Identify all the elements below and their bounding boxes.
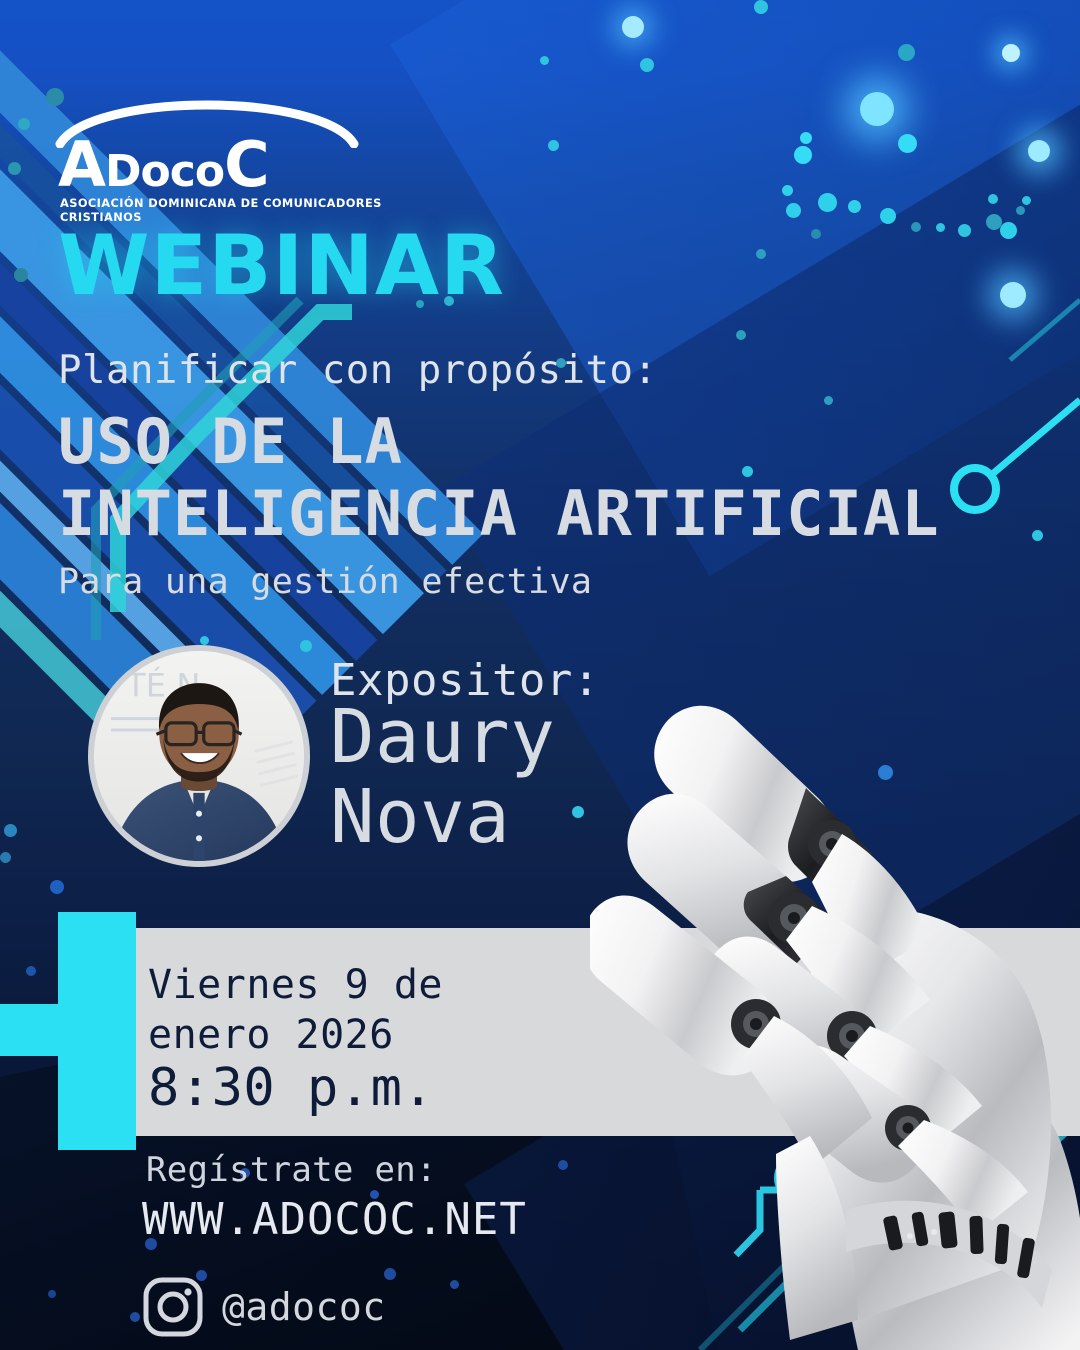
schedule-time: 8:30 p.m. — [148, 1058, 434, 1118]
registration-url-link[interactable]: WWW.ADOCOC.NET — [142, 1194, 527, 1245]
instagram-icon[interactable] — [142, 1276, 204, 1338]
webinar-poster: ADocoC ASOCIACIÓN DOMINICANA DE COMUNICA… — [0, 0, 1080, 1350]
instagram-handle: @adococ — [222, 1285, 386, 1329]
event-subtitle: Planificar con propósito: — [58, 348, 658, 393]
instagram-link[interactable]: @adococ — [142, 1276, 386, 1338]
event-title-line1: USO DE LA — [58, 410, 403, 473]
event-title-line2: INTELIGENCIA ARTIFICIAL — [58, 482, 940, 545]
event-type-heading: WEBINAR — [58, 224, 505, 307]
speaker-avatar: TÉ N — [88, 645, 310, 867]
robot-hand-icon — [590, 620, 1080, 1350]
banner-bracket-accent — [58, 912, 136, 1150]
speaker-first-name: Daury — [330, 700, 555, 775]
adococ-logo: ADocoC ASOCIACIÓN DOMINICANA DE COMUNICA… — [52, 86, 382, 224]
speaker-last-name: Nova — [330, 780, 510, 855]
speaker-photo-icon: TÉ N — [94, 651, 304, 861]
schedule-date-line1: Viernes 9 de — [148, 962, 443, 1008]
logo-wordmark: ADocoC — [58, 136, 382, 193]
event-tagline: Para una gestión efectiva — [58, 562, 592, 602]
schedule-date-line2: enero 2026 — [148, 1012, 394, 1058]
registration-label: Regístrate en: — [146, 1150, 437, 1190]
